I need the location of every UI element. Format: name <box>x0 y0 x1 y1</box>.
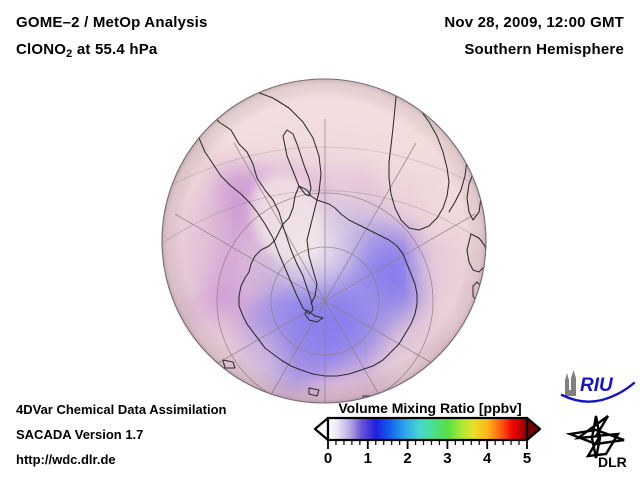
colorbar-gradient <box>328 418 527 440</box>
dlr-pinwheel-icon <box>570 416 624 458</box>
riu-wordmark: RIU <box>580 375 614 396</box>
colorbar-tick-4: 4 <box>477 450 497 467</box>
colorbar-tick-5: 5 <box>517 450 537 467</box>
colorbar-tick-3: 3 <box>437 450 457 467</box>
pressure-level: at 55.4 hPa <box>73 41 158 58</box>
colorbar[interactable]: 0 1 2 3 4 5 <box>310 414 546 472</box>
field-layer <box>161 78 487 404</box>
colorbar-high-arrow <box>527 418 540 440</box>
instrument-title: GOME–2 / MetOp Analysis <box>16 14 208 31</box>
colorbar-tick-1: 1 <box>358 450 378 467</box>
species-name: ClONO <box>16 41 66 58</box>
riu-logo: RIU <box>560 370 636 404</box>
dlr-wordmark: DLR <box>598 454 627 470</box>
colorbar-low-arrow <box>315 418 328 440</box>
dlr-logo: DLR <box>566 414 636 470</box>
datetime-label: Nov 28, 2009, 12:00 GMT <box>444 14 624 31</box>
colorbar-tick-0: 0 <box>318 450 338 467</box>
colorbar-ticks <box>328 440 527 449</box>
region-label: Southern Hemisphere <box>464 41 624 58</box>
method-label: 4DVar Chemical Data Assimilation <box>16 402 227 417</box>
colorbar-tick-2: 2 <box>398 450 418 467</box>
version-label: SACADA Version 1.7 <box>16 427 143 442</box>
globe-map <box>161 78 487 404</box>
website-link[interactable]: http://wdc.dlr.de <box>16 452 116 467</box>
species-title: ClONO2 at 55.4 hPa <box>16 41 157 60</box>
limb-shading <box>162 79 486 403</box>
riu-tower-icon <box>565 370 576 396</box>
